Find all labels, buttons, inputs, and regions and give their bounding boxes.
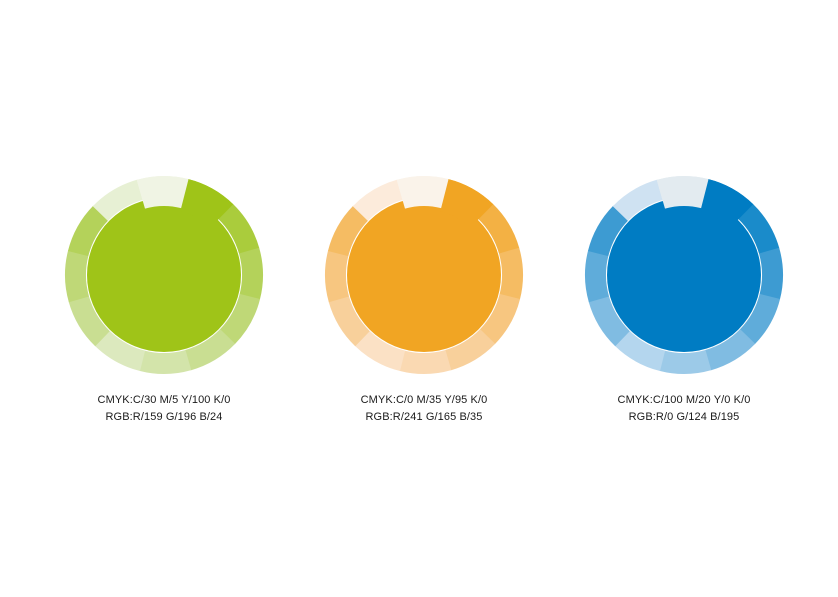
- swatch-caption-green: CMYK:C/30 M/5 Y/100 K/0RGB:R/159 G/196 B…: [65, 392, 263, 426]
- ring-segment[interactable]: [759, 248, 783, 300]
- swatch-caption-orange: CMYK:C/0 M/35 Y/95 K/0RGB:R/241 G/165 B/…: [325, 392, 523, 426]
- ring-segment[interactable]: [499, 248, 523, 300]
- core-disc-orange[interactable]: [347, 198, 501, 352]
- cmyk-value-blue: CMYK:C/100 M/20 Y/0 K/0: [585, 392, 783, 409]
- color-swatch-orange: CMYK:C/0 M/35 Y/95 K/0RGB:R/241 G/165 B/…: [325, 176, 523, 436]
- ring-segment[interactable]: [139, 350, 191, 374]
- color-wheel-green[interactable]: [65, 176, 263, 374]
- wheel-graphic-green: [65, 176, 263, 374]
- rgb-value-green: RGB:R/159 G/196 B/24: [65, 409, 263, 426]
- ring-segment[interactable]: [239, 248, 263, 300]
- notch-pale-wedge-blue[interactable]: [657, 176, 709, 209]
- rgb-value-blue: RGB:R/0 G/124 B/195: [585, 409, 783, 426]
- ring-segment[interactable]: [399, 350, 451, 374]
- color-swatch-blue: CMYK:C/100 M/20 Y/0 K/0RGB:R/0 G/124 B/1…: [585, 176, 783, 436]
- ring-segment[interactable]: [65, 250, 89, 302]
- color-wheel-orange[interactable]: [325, 176, 523, 374]
- notch-pale-wedge-orange[interactable]: [397, 176, 449, 209]
- color-wheel-blue[interactable]: [585, 176, 783, 374]
- wheel-graphic-orange: [325, 176, 523, 374]
- ring-segment[interactable]: [659, 350, 711, 374]
- color-palette-board: CMYK:C/30 M/5 Y/100 K/0RGB:R/159 G/196 B…: [0, 0, 838, 597]
- cmyk-value-green: CMYK:C/30 M/5 Y/100 K/0: [65, 392, 263, 409]
- color-swatch-green: CMYK:C/30 M/5 Y/100 K/0RGB:R/159 G/196 B…: [65, 176, 263, 436]
- swatch-caption-blue: CMYK:C/100 M/20 Y/0 K/0RGB:R/0 G/124 B/1…: [585, 392, 783, 426]
- core-disc-blue[interactable]: [607, 198, 761, 352]
- notch-pale-wedge-green[interactable]: [137, 176, 189, 209]
- wheel-graphic-blue: [585, 176, 783, 374]
- ring-segment[interactable]: [325, 250, 349, 302]
- cmyk-value-orange: CMYK:C/0 M/35 Y/95 K/0: [325, 392, 523, 409]
- core-disc-green[interactable]: [87, 198, 241, 352]
- rgb-value-orange: RGB:R/241 G/165 B/35: [325, 409, 523, 426]
- ring-segment[interactable]: [585, 250, 609, 302]
